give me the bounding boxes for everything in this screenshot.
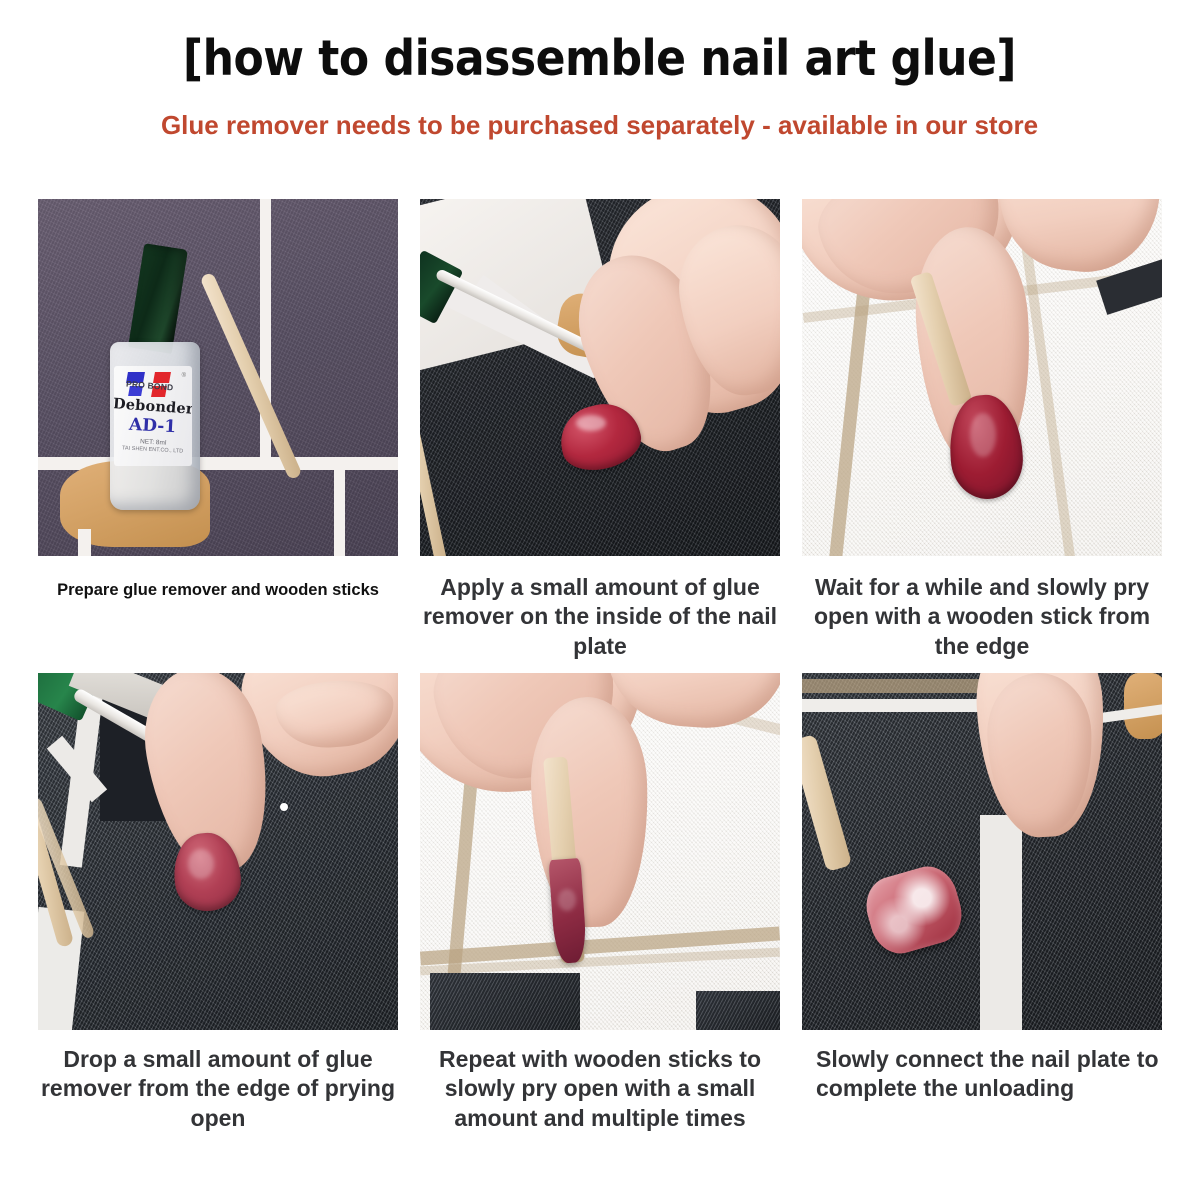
step-photo-1: PRO BOND ® Debonder AD-1 NET: 8ml TAI SH… (38, 199, 398, 556)
step-card-2: Apply a small amount of glue remover on … (420, 199, 780, 661)
nail-gloss (558, 889, 576, 911)
mat-line-vertical-2 (980, 815, 1022, 1030)
nail-gloss (576, 415, 606, 431)
step-caption-6: Slowly connect the nail plate to complet… (802, 1030, 1162, 1104)
page-subtitle: Glue remover needs to be purchased separ… (0, 110, 1199, 141)
step-caption-5: Repeat with wooden sticks to slowly pry … (420, 1030, 780, 1133)
glue-remover-bottle: PRO BOND ® Debonder AD-1 NET: 8ml TAI SH… (108, 324, 202, 539)
bottle-label: PRO BOND ® Debonder AD-1 NET: 8ml TAI SH… (114, 366, 192, 466)
step-photo-4 (38, 673, 398, 1030)
mat-line-horizontal (802, 699, 1002, 712)
nail-gloss (970, 413, 996, 457)
step-card-6: Slowly connect the nail plate to complet… (802, 673, 1162, 1133)
infographic-page: [how to disassemble nail art glue] Glue … (0, 0, 1199, 1200)
step-caption-3: Wait for a while and slowly pry open wit… (802, 556, 1162, 661)
step-photo-6 (802, 673, 1162, 1030)
step-caption-2: Apply a small amount of glue remover on … (420, 556, 780, 661)
step-photo-5 (420, 673, 780, 1030)
mat-dark-patch-2 (696, 991, 780, 1030)
mat-line-vertical-2 (334, 467, 345, 556)
registered-mark: ® (182, 373, 186, 379)
step-photo-3 (802, 199, 1162, 556)
page-title: [how to disassemble nail art glue] (0, 33, 1199, 84)
step-caption-1: Prepare glue remover and wooden sticks (38, 556, 398, 601)
steps-row-top: PRO BOND ® Debonder AD-1 NET: 8ml TAI SH… (38, 199, 1163, 661)
bottle-net-text: NET: 8ml (140, 438, 167, 446)
step-card-1: PRO BOND ® Debonder AD-1 NET: 8ml TAI SH… (38, 199, 398, 661)
step-card-3: Wait for a while and slowly pry open wit… (802, 199, 1162, 661)
step-card-4: Drop a small amount of glue remover from… (38, 673, 398, 1133)
bottle-company-text: TAI SHEN ENT.CO., LTD (122, 445, 183, 454)
nail-gloss (188, 849, 214, 879)
towel-stripe (802, 679, 1002, 693)
mat-speck (280, 803, 288, 811)
bottle-code-text: AD-1 (129, 415, 177, 437)
step-card-5: Repeat with wooden sticks to slowly pry … (420, 673, 780, 1133)
mat-dark-patch (430, 973, 580, 1030)
step-photo-2 (420, 199, 780, 556)
mat-line-vertical-3 (78, 529, 91, 556)
step-caption-4: Drop a small amount of glue remover from… (38, 1030, 398, 1133)
steps-row-bottom: Drop a small amount of glue remover from… (38, 673, 1163, 1133)
